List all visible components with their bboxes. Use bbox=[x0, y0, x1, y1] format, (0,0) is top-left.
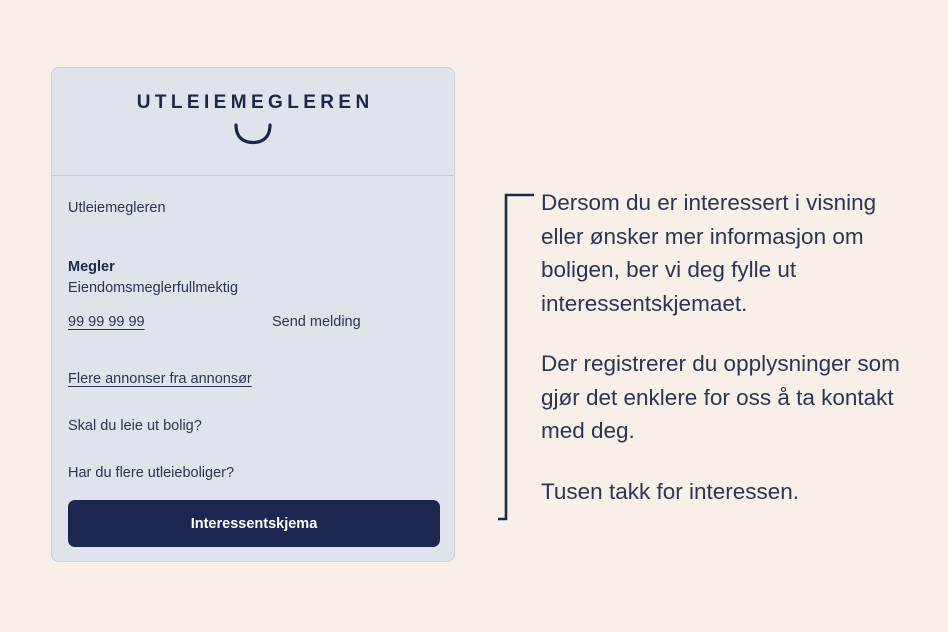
advertiser-links: Flere annonser fra annonsør Skal du leie… bbox=[68, 369, 438, 484]
contact-row: 99 99 99 99 Send melding bbox=[68, 312, 438, 333]
smile-arc-icon bbox=[233, 123, 273, 150]
annotation-paragraph-2: Der registrerer du opplysninger som gjør… bbox=[541, 347, 911, 448]
agent-title-label: Eiendomsmeglerfullmektig bbox=[68, 278, 438, 299]
annotation-text-block: Dersom du er interessert i visning eller… bbox=[541, 186, 911, 508]
broker-contact-card: UTLEIEMEGLEREN Utleiemegleren Megler Eie… bbox=[51, 67, 455, 562]
phone-number-link[interactable]: 99 99 99 99 bbox=[68, 312, 272, 333]
send-message-link[interactable]: Send melding bbox=[272, 312, 361, 333]
annotation-paragraph-1: Dersom du er interessert i visning eller… bbox=[541, 186, 911, 320]
utleiemegleren-logo-wordmark: UTLEIEMEGLEREN bbox=[132, 93, 373, 112]
more-rental-properties-link[interactable]: Har du flere utleieboliger? bbox=[68, 463, 438, 484]
interest-form-button[interactable]: Interessentskjema bbox=[68, 500, 440, 547]
rent-out-property-link[interactable]: Skal du leie ut bolig? bbox=[68, 416, 438, 437]
card-header: UTLEIEMEGLEREN bbox=[52, 68, 454, 176]
annotation-paragraph-3: Tusen takk for interessen. bbox=[541, 475, 911, 509]
more-ads-from-advertiser-link[interactable]: Flere annonser fra annonsør bbox=[68, 369, 252, 390]
company-name: Utleiemegleren bbox=[68, 198, 438, 219]
agent-role-label: Megler bbox=[68, 259, 438, 275]
card-body: Utleiemegleren Megler Eiendomsmeglerfull… bbox=[52, 176, 454, 484]
